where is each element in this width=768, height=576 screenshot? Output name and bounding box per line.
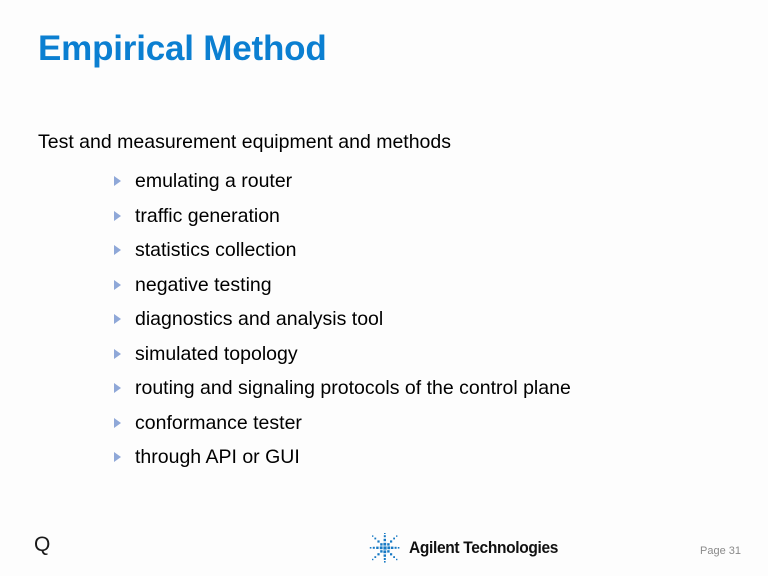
list-item: conformance tester xyxy=(38,406,738,441)
triangle-bullet-icon xyxy=(114,418,121,428)
page-title: Empirical Method xyxy=(38,29,327,69)
list-item-label: routing and signaling protocols of the c… xyxy=(135,377,571,399)
list-item: traffic generation xyxy=(38,199,738,234)
list-item-label: emulating a router xyxy=(135,170,292,192)
triangle-bullet-icon xyxy=(114,280,121,290)
list-item: simulated topology xyxy=(38,337,738,372)
list-item: routing and signaling protocols of the c… xyxy=(38,371,738,406)
list-item-label: diagnostics and analysis tool xyxy=(135,308,383,330)
list-item: statistics collection xyxy=(38,233,738,268)
list-item-label: traffic generation xyxy=(135,205,280,227)
lead-paragraph: Test and measurement equipment and metho… xyxy=(38,129,738,155)
page-number: Page 31 xyxy=(700,545,741,557)
slide-body: Test and measurement equipment and metho… xyxy=(38,129,738,475)
list-item-label: through API or GUI xyxy=(135,446,300,468)
corner-mark-q: Q xyxy=(34,533,50,557)
list-item: diagnostics and analysis tool xyxy=(38,302,738,337)
list-item-label: statistics collection xyxy=(135,239,296,261)
slide-canvas: Empirical Method Test and measurement eq… xyxy=(0,0,768,576)
triangle-bullet-icon xyxy=(114,452,121,462)
triangle-bullet-icon xyxy=(114,211,121,221)
agilent-wordmark: Agilent Technologies xyxy=(409,539,558,558)
list-item: through API or GUI xyxy=(38,440,738,475)
bullet-list: emulating a router traffic generation st… xyxy=(38,164,738,475)
triangle-bullet-icon xyxy=(114,176,121,186)
triangle-bullet-icon xyxy=(114,245,121,255)
list-item-label: negative testing xyxy=(135,274,272,296)
list-item-label: conformance tester xyxy=(135,412,302,434)
triangle-bullet-icon xyxy=(114,349,121,359)
list-item: emulating a router xyxy=(38,164,738,199)
list-item: negative testing xyxy=(38,268,738,303)
agilent-spark-icon xyxy=(368,533,402,563)
list-item-label: simulated topology xyxy=(135,343,298,365)
agilent-logo: Agilent Technologies xyxy=(368,532,568,564)
triangle-bullet-icon xyxy=(114,383,121,393)
triangle-bullet-icon xyxy=(114,314,121,324)
